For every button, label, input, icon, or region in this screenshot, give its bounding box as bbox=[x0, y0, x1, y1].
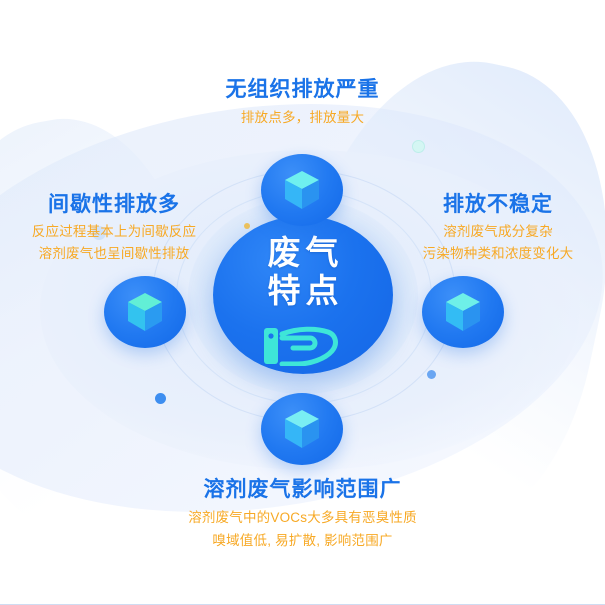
hub-title-line1: 废气 bbox=[263, 234, 344, 272]
section-bottom: 溶剂废气影响范围广 溶剂废气中的VOCs大多具有恶臭性质 嗅域值低, 易扩散, … bbox=[0, 476, 605, 550]
section-bottom-subtitle-line1: 溶剂废气中的VOCs大多具有恶臭性质 bbox=[0, 508, 605, 527]
section-bottom-title: 溶剂废气影响范围广 bbox=[0, 476, 605, 504]
section-bottom-subtitle-line2: 嗅域值低, 易扩散, 影响范围广 bbox=[0, 531, 605, 550]
node-right[interactable] bbox=[422, 276, 504, 348]
infographic-canvas: 废气 特点 bbox=[0, 0, 605, 605]
decorative-dot-blue-right bbox=[427, 370, 436, 379]
cube-icon bbox=[282, 408, 322, 450]
center-hub: 废气 特点 bbox=[213, 216, 393, 374]
section-left-subtitle-line2: 溶剂废气也呈间歇性排放 bbox=[8, 244, 220, 263]
hand-leaf-icon bbox=[260, 320, 346, 366]
cube-icon bbox=[282, 169, 322, 211]
section-top: 无组织排放严重 排放点多，排放量大 bbox=[0, 76, 605, 127]
section-left-subtitle-line1: 反应过程基本上为间歇反应 bbox=[8, 222, 220, 241]
hub-title-line2: 特点 bbox=[263, 272, 344, 310]
node-left[interactable] bbox=[104, 276, 186, 348]
node-bottom[interactable] bbox=[261, 393, 343, 465]
decorative-dot-blue-left bbox=[155, 393, 166, 404]
decorative-dot-amber bbox=[244, 223, 250, 229]
section-top-title: 无组织排放严重 bbox=[0, 76, 605, 104]
section-right-title: 排放不稳定 bbox=[398, 191, 598, 219]
section-right: 排放不稳定 溶剂废气成分复杂 污染物种类和浓度变化大 bbox=[398, 191, 598, 263]
cube-icon bbox=[443, 291, 483, 333]
section-left: 间歇性排放多 反应过程基本上为间歇反应 溶剂废气也呈间歇性排放 bbox=[8, 191, 220, 263]
section-top-subtitle-line1: 排放点多，排放量大 bbox=[0, 108, 605, 127]
section-left-title: 间歇性排放多 bbox=[8, 191, 220, 219]
cube-icon bbox=[125, 291, 165, 333]
node-top[interactable] bbox=[261, 154, 343, 226]
section-right-subtitle-line1: 溶剂废气成分复杂 bbox=[398, 222, 598, 241]
decorative-dot-cyan bbox=[412, 140, 425, 153]
section-right-subtitle-line2: 污染物种类和浓度变化大 bbox=[398, 244, 598, 263]
